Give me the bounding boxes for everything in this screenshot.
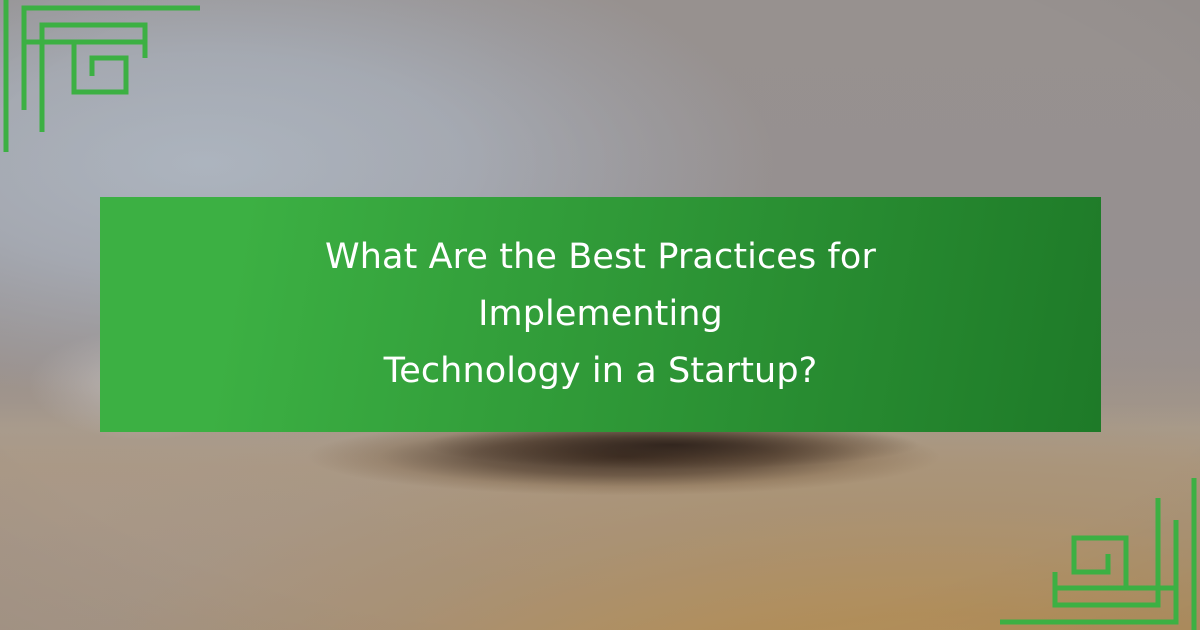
corner-ornament-top-left: [0, 0, 200, 200]
header-card: What Are the Best Practices for Implemen…: [0, 0, 1200, 630]
page-title: What Are the Best Practices for Implemen…: [201, 229, 1001, 399]
corner-ornament-top-left-icon: [0, 0, 200, 200]
corner-ornament-bottom-right: [1000, 430, 1200, 630]
title-banner: What Are the Best Practices for Implemen…: [100, 197, 1101, 432]
corner-ornament-bottom-right-icon: [1000, 430, 1200, 630]
